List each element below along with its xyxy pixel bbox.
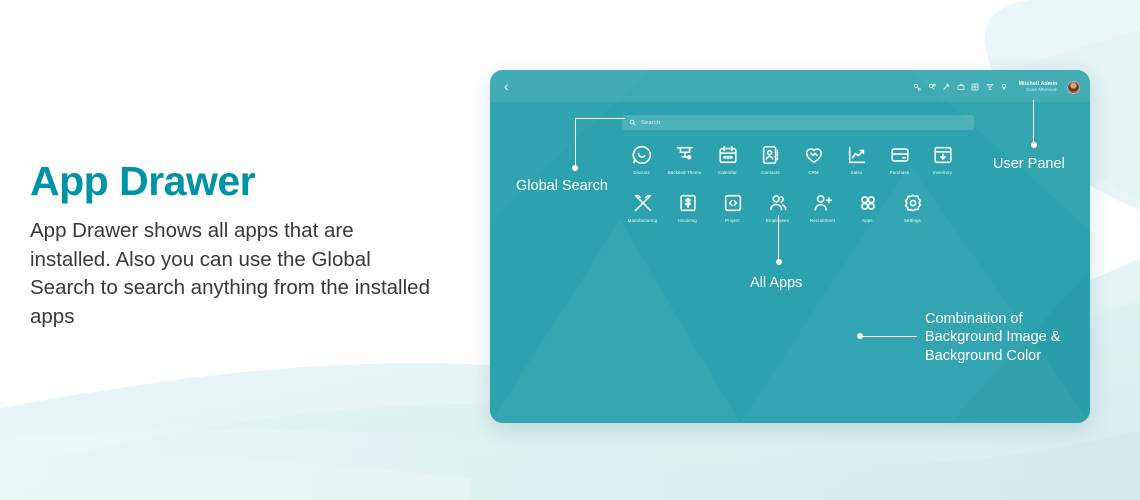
leader-line xyxy=(575,118,576,168)
app-item-sales[interactable]: Sales xyxy=(835,142,878,175)
app-label: Sales xyxy=(851,170,863,175)
app-label: Contacts xyxy=(761,170,779,175)
app-item-recruitment[interactable]: Recruitment xyxy=(800,190,845,223)
project-icon xyxy=(722,192,744,214)
slide-canvas: App Drawer App Drawer shows all apps tha… xyxy=(0,0,1140,500)
leader-dot xyxy=(857,333,863,339)
app-label: Invoicing xyxy=(678,218,697,223)
back-chevron-icon[interactable]: ‹ xyxy=(504,78,509,94)
app-row-1: Discuss Backend Theme Calendar Contacts … xyxy=(620,142,964,175)
annotation-label: All Apps xyxy=(750,274,802,292)
annotation-label-line2: Background Image & xyxy=(925,328,1060,346)
app-grid: Discuss Backend Theme Calendar Contacts … xyxy=(620,142,964,223)
app-item-inventory[interactable]: Inventory xyxy=(921,142,964,175)
settings-icon xyxy=(902,192,924,214)
app-label: Manufacturing xyxy=(628,218,658,223)
app-item-calendar[interactable]: Calendar xyxy=(706,142,749,175)
app-row-2: Manufacturing Invoicing Project Employee… xyxy=(620,190,964,223)
page-title: App Drawer xyxy=(30,160,430,203)
contacts-icon xyxy=(760,144,782,166)
app-label: Purchase xyxy=(890,170,910,175)
leader-line xyxy=(778,215,779,263)
search-icon xyxy=(629,119,636,126)
messages-icon[interactable] xyxy=(913,83,921,91)
app-label: Project xyxy=(725,218,740,223)
app-item-settings[interactable]: Settings xyxy=(890,190,935,223)
app-item-backend-theme[interactable]: Backend Theme xyxy=(663,142,706,175)
calendar-icon xyxy=(717,144,739,166)
leader-line xyxy=(862,336,917,337)
app-item-contacts[interactable]: Contacts xyxy=(749,142,792,175)
avatar[interactable] xyxy=(1067,81,1080,94)
search-placeholder: Search xyxy=(641,120,661,126)
leader-line xyxy=(575,118,625,119)
leader-dot xyxy=(572,165,578,171)
discuss-icon xyxy=(631,144,653,166)
annotation-label-block: Combination of Background Image & Backgr… xyxy=(925,310,1060,365)
user-greeting: Good Afternoon xyxy=(1019,87,1058,93)
purchase-icon xyxy=(889,144,911,166)
app-item-invoicing[interactable]: Invoicing xyxy=(665,190,710,223)
app-drawer-panel: ‹ Mitchell Admin Good Afternoon Search xyxy=(490,70,1090,423)
activities-icon[interactable] xyxy=(928,83,936,91)
annotation-label-line1: Combination of xyxy=(925,310,1060,328)
annotation-label: Global Search xyxy=(516,177,608,195)
marketing-copy: App Drawer App Drawer shows all apps tha… xyxy=(30,160,430,332)
app-label: Settings xyxy=(904,218,921,223)
clock-icon[interactable] xyxy=(986,83,994,91)
apps-icon xyxy=(857,192,879,214)
manufacturing-icon xyxy=(632,192,654,214)
leader-line xyxy=(1033,100,1034,146)
sales-icon xyxy=(846,144,868,166)
user-panel[interactable]: Mitchell Admin Good Afternoon xyxy=(913,76,1080,98)
grid-icon[interactable] xyxy=(971,83,979,91)
backend-theme-icon xyxy=(674,144,696,166)
invoicing-icon xyxy=(677,192,699,214)
employees-icon xyxy=(767,192,789,214)
app-label: Calendar xyxy=(718,170,737,175)
bulb-icon[interactable] xyxy=(1000,83,1008,91)
user-identity[interactable]: Mitchell Admin Good Afternoon xyxy=(1019,81,1058,93)
app-item-manufacturing[interactable]: Manufacturing xyxy=(620,190,665,223)
app-item-apps[interactable]: Apps xyxy=(845,190,890,223)
app-label: Recruitment xyxy=(810,218,835,223)
app-label: Backend Theme xyxy=(668,170,702,175)
briefcase-icon[interactable] xyxy=(957,83,965,91)
leader-dot xyxy=(776,259,782,265)
bug-icon[interactable] xyxy=(942,83,950,91)
page-description: App Drawer shows all apps that are insta… xyxy=(30,217,430,332)
recruitment-icon xyxy=(812,192,834,214)
app-item-project[interactable]: Project xyxy=(710,190,755,223)
app-label: Apps xyxy=(862,218,873,223)
app-label: CRM xyxy=(808,170,818,175)
leader-dot xyxy=(1031,142,1037,148)
app-label: Discuss xyxy=(633,170,649,175)
inventory-icon xyxy=(932,144,954,166)
app-item-crm[interactable]: CRM xyxy=(792,142,835,175)
search-input[interactable]: Search xyxy=(622,115,974,130)
annotation-label: User Panel xyxy=(993,155,1065,173)
annotation-label-line3: Background Color xyxy=(925,347,1060,365)
crm-icon xyxy=(803,144,825,166)
app-item-purchase[interactable]: Purchase xyxy=(878,142,921,175)
app-label: Inventory xyxy=(933,170,952,175)
app-item-discuss[interactable]: Discuss xyxy=(620,142,663,175)
